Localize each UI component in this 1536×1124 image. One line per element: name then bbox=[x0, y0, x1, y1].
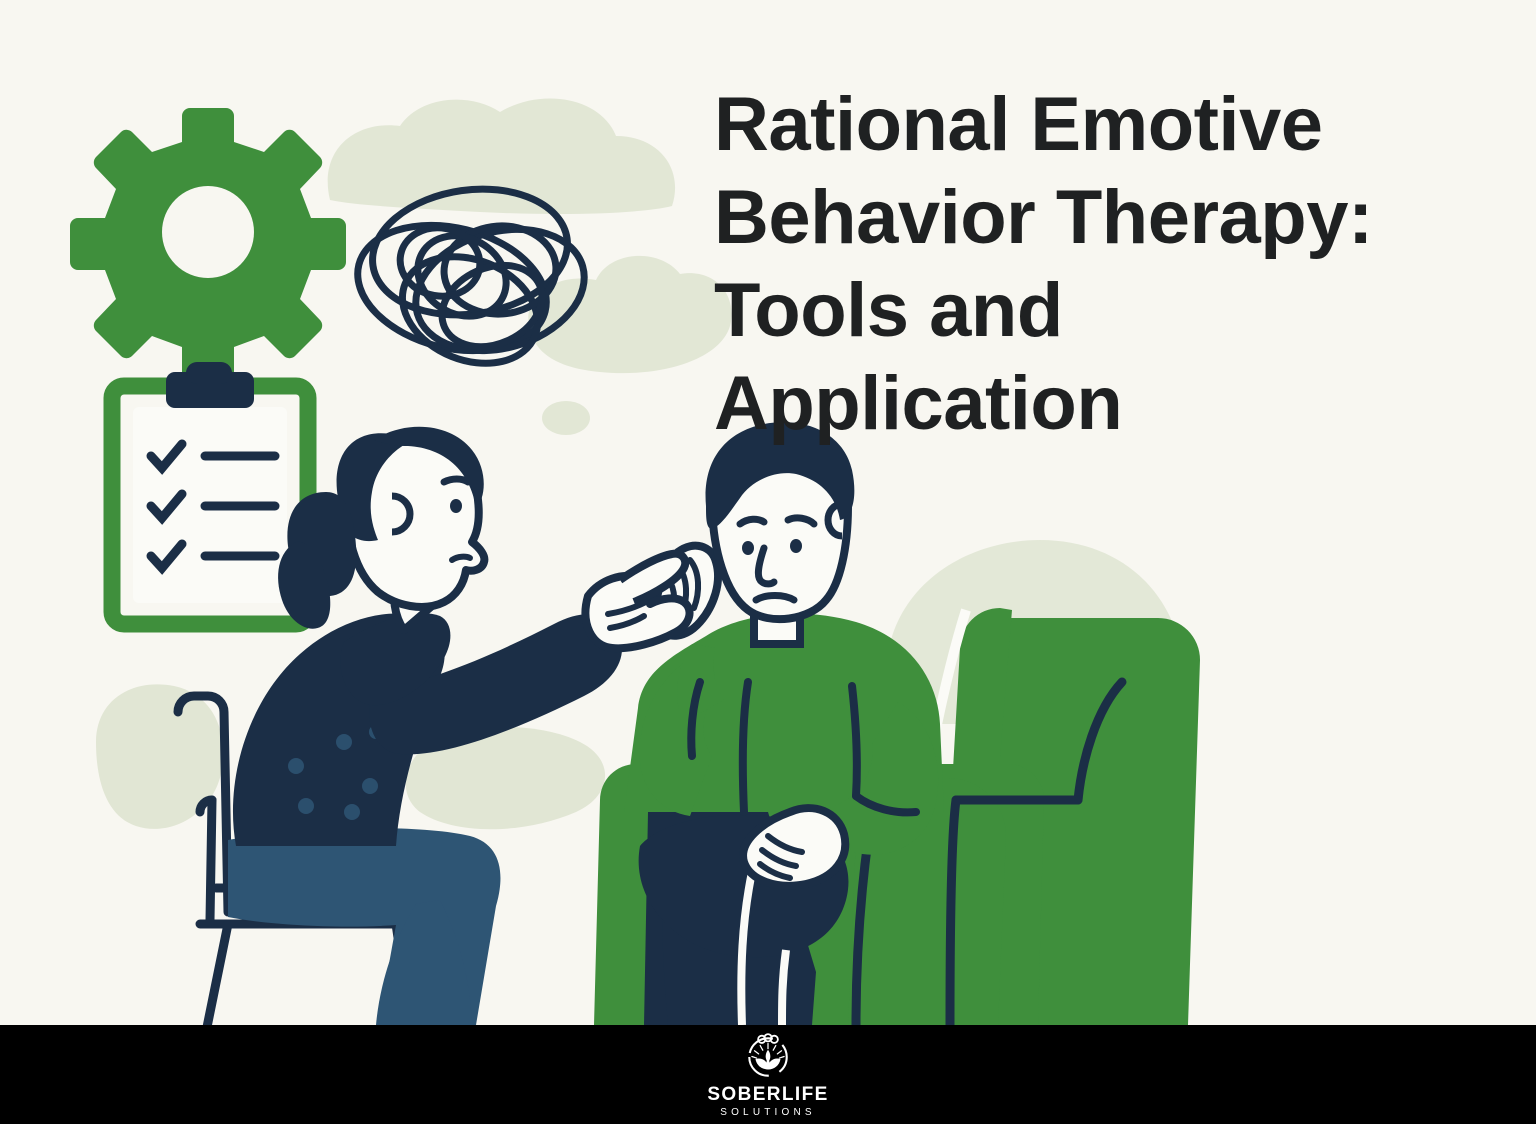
logo-name: SOBERLIFE bbox=[707, 1085, 828, 1105]
footer-bar: SOBERLIFE SOLUTIONS bbox=[0, 1025, 1536, 1124]
gear-icon bbox=[70, 108, 346, 382]
title-line-3: Tools and bbox=[714, 264, 1504, 357]
title-line-1: Rational Emotive bbox=[714, 78, 1504, 171]
soberlife-lotus-emblem-icon bbox=[742, 1031, 794, 1083]
title-line-2: Behavior Therapy: bbox=[714, 171, 1504, 264]
logo-subtitle: SOLUTIONS bbox=[720, 1107, 816, 1119]
poster-canvas: Rational Emotive Behavior Therapy: Tools… bbox=[0, 0, 1536, 1124]
page-title: Rational Emotive Behavior Therapy: Tools… bbox=[714, 78, 1504, 450]
title-line-4: Application bbox=[714, 357, 1504, 450]
brand-logo: SOBERLIFE SOLUTIONS bbox=[707, 1031, 828, 1119]
